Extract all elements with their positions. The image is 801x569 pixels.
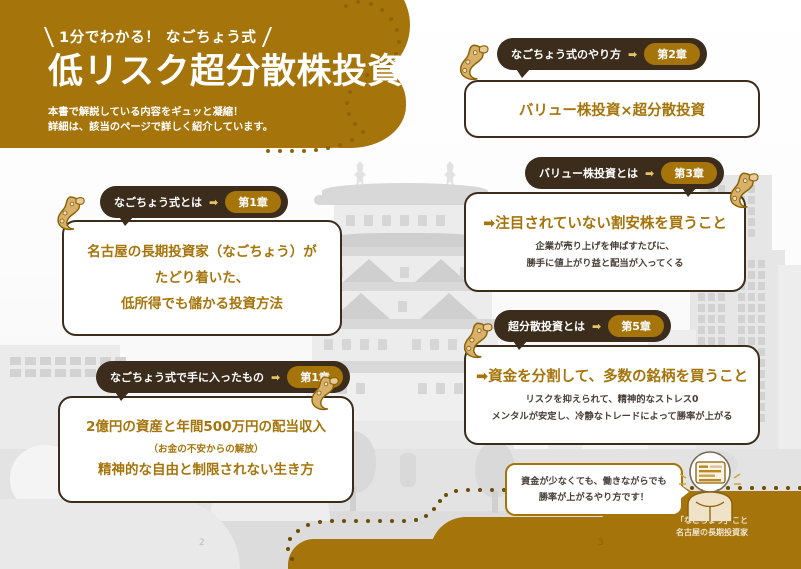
shachihoko-icon bbox=[452, 318, 496, 362]
pill-nagochou-shiki-towa[interactable]: なごちょう式とは ➡ 第1章 bbox=[100, 186, 288, 218]
infographic-page: 1分でわかる！ なごちょう式 低リスク超分散株投資 本書で解説している内容をギュ… bbox=[0, 0, 801, 569]
pill-label: バリュー株投資とは bbox=[539, 165, 638, 181]
shachihoko-icon bbox=[300, 372, 342, 414]
card-nagochou-shiki-towa[interactable]: 名古屋の長期投資家（なごちょう）が たどり着いた、 低所得でも儲かる投資方法 bbox=[62, 220, 342, 336]
header-content: 1分でわかる！ なごちょう式 低リスク超分散株投資 本書で解説している内容をギュ… bbox=[48, 26, 378, 136]
card-line: メンタルが安定し、冷静なトレードによって勝率が上がる bbox=[492, 409, 733, 425]
card-line: たどり着いた、 bbox=[155, 265, 250, 291]
header-note: 本書で解説している内容をギュッと凝縮！ 詳細は、該当のページで詳しく紹介していま… bbox=[48, 105, 378, 137]
pill-tail-icon bbox=[114, 390, 131, 401]
header-note-line1: 本書で解説している内容をギュッと凝縮！ bbox=[48, 105, 378, 121]
header-note-line2: 詳細は、該当のページで詳しく紹介しています。 bbox=[48, 120, 378, 136]
card-chou-bunsan-toushi[interactable]: ➡資金を分割して、多数の銘柄を買うこと リスクを抑えられて、精神的なストレス0 … bbox=[464, 345, 760, 445]
pill-tail-icon bbox=[118, 215, 135, 226]
card-line: （お金の不安からの解放） bbox=[148, 439, 263, 460]
avatar-caption: 「なごちょう」こと 名古屋の長期投資家 bbox=[660, 515, 764, 539]
page-number-right: 3 bbox=[598, 538, 604, 548]
chapter-badge[interactable]: 第3章 bbox=[661, 162, 717, 184]
shachihoko-icon bbox=[448, 40, 492, 84]
card-value-kabu-toushi[interactable]: ➡注目されていない割安株を買うこと 企業が売り上げを伸ばすたびに、 勝手に値上が… bbox=[464, 192, 746, 292]
pill-value-kabu-toushi[interactable]: バリュー株投資とは ➡ 第3章 bbox=[525, 157, 724, 189]
pill-label: なごちょう式とは bbox=[114, 194, 202, 210]
arrow-right-icon: ➡ bbox=[592, 320, 601, 333]
pill-label: なごちょう式で手に入ったもの bbox=[110, 369, 264, 385]
card-line: ➡資金を分割して、多数の銘柄を買うこと bbox=[476, 365, 748, 386]
arrow-right-icon: ➡ bbox=[628, 48, 637, 61]
avatar-nagochou bbox=[672, 450, 752, 522]
card-line: 精神的な自由と制限されない生き方 bbox=[98, 460, 314, 482]
tree-far bbox=[400, 453, 416, 487]
shachihoko-icon bbox=[718, 168, 762, 212]
arrow-right-icon: ➡ bbox=[645, 167, 654, 180]
header-kicker-row: 1分でわかる！ なごちょう式 bbox=[48, 26, 378, 47]
avatar-caption-line2: 名古屋の長期投資家 bbox=[660, 527, 764, 539]
pill-label: 超分散投資とは bbox=[508, 318, 585, 334]
pill-tail-icon bbox=[512, 339, 529, 350]
pill-yarikata[interactable]: なごちょう式のやり方 ➡ 第2章 bbox=[497, 38, 707, 70]
speech-callout[interactable]: 資金が少なくても、働きながらでも 勝率が上がるやり方です！ bbox=[505, 463, 683, 516]
chapter-badge[interactable]: 第2章 bbox=[644, 43, 700, 65]
chapter-badge[interactable]: 第1章 bbox=[225, 191, 281, 213]
pill-chou-bunsan-toushi[interactable]: 超分散投資とは ➡ 第5章 bbox=[494, 310, 671, 342]
bottom-left-shape bbox=[0, 499, 240, 569]
card-line: 企業が売り上げを伸ばすたびに、 bbox=[535, 239, 674, 255]
card-line: 2億円の資産と年間500万円の配当収入 bbox=[86, 417, 326, 439]
arrow-right-icon: ➡ bbox=[271, 371, 280, 384]
header-kicker: 1分でわかる！ なごちょう式 bbox=[59, 26, 257, 47]
card-yarikata[interactable]: バリュー株投資×超分散投資 bbox=[464, 80, 760, 138]
card-line: 名古屋の長期投資家（なごちょう）が bbox=[87, 239, 317, 265]
card-line: ➡注目されていない割安株を買うこと bbox=[483, 212, 727, 233]
pill-tail-icon bbox=[515, 67, 532, 78]
shachihoko-icon bbox=[46, 192, 88, 234]
pill-tail-icon bbox=[681, 186, 698, 197]
callout-line1: 資金が少なくても、働きながらでも bbox=[521, 474, 667, 490]
arrow-right-icon: ➡ bbox=[209, 196, 218, 209]
page-number-left: 2 bbox=[199, 538, 205, 548]
building bbox=[778, 265, 801, 450]
page-title: 低リスク超分散株投資 bbox=[48, 53, 378, 92]
card-line: 低所得でも儲かる投資方法 bbox=[121, 291, 283, 317]
avatar-caption-line1: 「なごちょう」こと bbox=[660, 515, 764, 527]
slash-right-icon bbox=[262, 27, 272, 47]
pill-label: なごちょう式のやり方 bbox=[511, 46, 621, 62]
card-line: 勝手に値上がり益と配当が入ってくる bbox=[526, 256, 683, 272]
card-line: リスクを抑えられて、精神的なストレス0 bbox=[525, 392, 698, 408]
card-line: バリュー株投資×超分散投資 bbox=[519, 99, 705, 120]
callout-line2: 勝率が上がるやり方です！ bbox=[521, 490, 667, 506]
chapter-badge[interactable]: 第5章 bbox=[608, 315, 664, 337]
